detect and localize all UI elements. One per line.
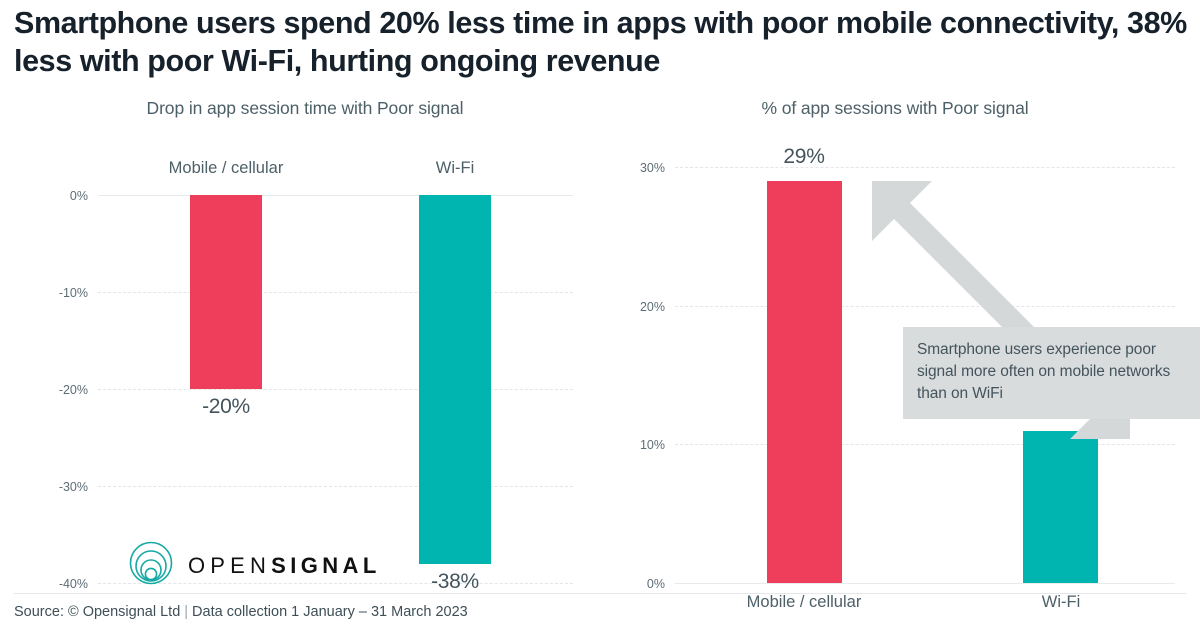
- annotation-arrow: [870, 175, 1190, 475]
- y-tick-label-4: -40%: [59, 577, 88, 591]
- chart-title-left: Drop in app session time with Poor signa…: [10, 98, 600, 119]
- x-category-label-mobile-left: Mobile / cellular: [169, 159, 284, 178]
- chart-title-right: % of app sessions with Poor signal: [600, 98, 1190, 119]
- footer-source: Source: © Opensignal Ltd|Data collection…: [14, 604, 468, 620]
- plot-area-right: 30% 20% 10% 0% 29% 11% Mobile / cellular…: [675, 167, 1175, 583]
- y-tick-label-20: 20%: [640, 300, 665, 314]
- x-category-label-mobile-right: Mobile / cellular: [747, 593, 862, 612]
- wordmark-signal: SIGNAL: [271, 553, 381, 578]
- opensignal-wordmark: OPENSIGNAL: [188, 553, 381, 579]
- bar-mobile-right[interactable]: [767, 181, 842, 583]
- y-tick-label-0: 0%: [70, 189, 88, 203]
- gridline-2: -20%: [98, 389, 573, 391]
- x-category-label-wifi-right: Wi-Fi: [1042, 593, 1080, 612]
- plot-area-left: 0% -10% -20% -30% -40% Mobile / cellular…: [98, 195, 573, 583]
- gridline-3: -30%: [98, 486, 573, 488]
- footer-collection-text: Data collection 1 January – 31 March 202…: [192, 604, 468, 620]
- bar-wifi-left[interactable]: [419, 195, 491, 564]
- gridline-1: -10%: [98, 292, 573, 294]
- annotation-text-box: Smartphone users experience poor signal …: [903, 327, 1200, 419]
- y-tick-label-30: 30%: [640, 161, 665, 175]
- y-tick-label-3: -30%: [59, 480, 88, 494]
- wordmark-open: OPEN: [188, 553, 271, 578]
- x-category-label-wifi-left: Wi-Fi: [436, 159, 474, 178]
- footer-source-text: Source: © Opensignal Ltd: [14, 604, 180, 620]
- y-tick-label-10: 10%: [640, 438, 665, 452]
- gridline-00: 0%: [675, 583, 1175, 585]
- opensignal-signal-rings-icon: [128, 540, 174, 591]
- y-tick-label-00: 0%: [647, 577, 665, 591]
- gridline-30: 30%: [675, 167, 1175, 169]
- bar-wifi-right[interactable]: [1023, 431, 1098, 583]
- page-title: Smartphone users spend 20% less time in …: [14, 4, 1190, 80]
- y-tick-label-2: -20%: [59, 383, 88, 397]
- bar-value-label-mobile-left: -20%: [202, 395, 250, 419]
- bar-value-label-wifi-left: -38%: [431, 570, 479, 594]
- gridline-10: 10%: [675, 444, 1175, 446]
- footer-divider: [14, 593, 1186, 594]
- bar-mobile-left[interactable]: [190, 195, 262, 389]
- chart-panel-pct-sessions-poor-signal: % of app sessions with Poor signal 30% 2…: [600, 92, 1190, 592]
- chart-panel-drop-in-session-time: Drop in app session time with Poor signa…: [10, 92, 600, 592]
- opensignal-logo: OPENSIGNAL: [128, 540, 381, 591]
- bar-value-label-mobile-right: 29%: [783, 145, 824, 169]
- footer-separator: |: [180, 604, 192, 620]
- gridline-0: 0%: [98, 195, 573, 197]
- gridline-20: 20%: [675, 306, 1175, 308]
- y-tick-label-1: -10%: [59, 286, 88, 300]
